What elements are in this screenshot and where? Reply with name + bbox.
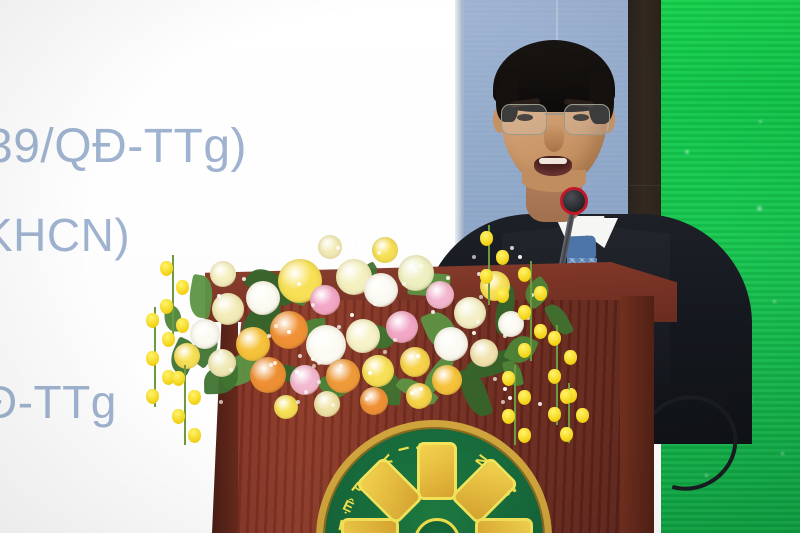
babys-breath-dot xyxy=(269,363,273,367)
babys-breath-dot xyxy=(392,262,396,266)
babys-breath-dot xyxy=(336,246,340,250)
babys-breath-dot xyxy=(446,276,450,280)
flower-bloom xyxy=(274,395,298,419)
orchid-floret xyxy=(160,261,173,276)
flower-bloom xyxy=(454,297,486,329)
orchid-floret xyxy=(146,351,159,366)
flower-bloom xyxy=(386,311,418,343)
slide-line-1: 39/QĐ-TTg) xyxy=(0,119,247,174)
babys-breath-dot xyxy=(419,387,423,391)
orchid-floret xyxy=(502,371,515,386)
babys-breath-dot xyxy=(339,364,343,368)
emblem-petal xyxy=(417,442,457,500)
babys-breath-dot xyxy=(292,244,296,248)
orchid-floret xyxy=(160,299,173,314)
orchid-floret xyxy=(518,390,531,405)
flower-bloom xyxy=(470,339,498,367)
babys-breath-dot xyxy=(377,251,381,255)
babys-breath-dot xyxy=(472,331,476,335)
led-speckle xyxy=(757,206,762,211)
babys-breath-dot xyxy=(503,334,507,338)
babys-breath-dot xyxy=(219,400,223,404)
flower-bloom xyxy=(426,281,454,309)
orchid-floret xyxy=(534,324,547,339)
babys-breath-dot xyxy=(331,403,335,407)
flower-bloom xyxy=(210,261,236,287)
flower-bloom xyxy=(346,319,380,353)
babys-breath-dot xyxy=(503,387,507,391)
babys-breath-dot xyxy=(413,269,417,273)
orchid-floret xyxy=(176,318,189,333)
lens-right xyxy=(564,104,610,135)
led-speckle xyxy=(781,452,784,455)
orchid-floret xyxy=(560,389,573,404)
orchid-floret xyxy=(146,389,159,404)
flower-bloom xyxy=(310,285,340,315)
orchid-floret xyxy=(146,313,159,328)
flower-bloom xyxy=(360,387,388,415)
babys-breath-dot xyxy=(419,264,423,268)
flower-bloom xyxy=(250,357,286,393)
orchid-floret xyxy=(188,428,201,443)
babys-breath-dot xyxy=(354,244,358,248)
emblem-petal xyxy=(475,518,533,533)
orchid-floret xyxy=(480,231,493,246)
led-speckle xyxy=(773,300,776,303)
orchid-floret xyxy=(548,369,561,384)
orchid-floret xyxy=(548,407,561,422)
flower-bloom xyxy=(174,343,200,369)
flower-bloom xyxy=(372,237,398,263)
lens-left xyxy=(501,104,547,135)
mouth xyxy=(534,156,572,176)
flower-bloom xyxy=(236,327,270,361)
flower-bloom xyxy=(434,327,468,361)
flower-bloom xyxy=(246,281,280,315)
babys-breath-dot xyxy=(538,402,542,406)
emblem-ring-char: I xyxy=(394,445,412,453)
slide-line-2: KHCN) xyxy=(0,208,130,262)
babys-breath-dot xyxy=(493,377,497,381)
babys-breath-dot xyxy=(219,350,223,354)
babys-breath-dot xyxy=(312,364,316,368)
flower-bloom xyxy=(432,365,462,395)
flower-bloom xyxy=(362,355,394,387)
babys-breath-dot xyxy=(383,350,387,354)
flower-bloom xyxy=(212,293,244,325)
babys-breath-dot xyxy=(229,368,233,372)
babys-breath-dot xyxy=(298,354,302,358)
flower-bloom xyxy=(314,391,340,417)
glasses-bridge xyxy=(545,113,565,115)
orchid-floret xyxy=(502,409,515,424)
orchid-floret xyxy=(172,409,185,424)
babys-breath-dot xyxy=(381,276,385,280)
orchid-floret xyxy=(162,332,175,347)
babys-breath-dot xyxy=(518,255,522,259)
flower-bloom xyxy=(326,359,360,393)
babys-breath-dot xyxy=(337,325,341,329)
babys-breath-dot xyxy=(267,334,271,338)
babys-breath-dot xyxy=(350,313,354,317)
babys-breath-dot xyxy=(223,246,227,250)
photo-scene: 39/QĐ-TTg) KHCN) Đ-TTg xyxy=(0,0,800,533)
orchid-floret xyxy=(188,390,201,405)
orchid-floret xyxy=(518,267,531,282)
orchid-floret xyxy=(518,428,531,443)
babys-breath-dot xyxy=(179,265,183,269)
institute-emblem: VIỆN NÔNG NGHIỆP VIỆT NAM xyxy=(316,420,552,533)
orchid-floret xyxy=(518,343,531,358)
emblem-ring-char: Ệ xyxy=(340,497,356,517)
orchid-floret xyxy=(534,286,547,301)
slide-line-3: Đ-TTg xyxy=(0,375,117,429)
babys-breath-dot xyxy=(186,306,190,310)
nose xyxy=(544,124,564,152)
microphone-icon xyxy=(560,187,588,215)
orchid-floret xyxy=(548,331,561,346)
babys-breath-dot xyxy=(510,246,514,250)
babys-breath-dot xyxy=(431,310,435,314)
lectern-right-edge xyxy=(620,296,654,533)
babys-breath-dot xyxy=(171,403,175,407)
babys-breath-dot xyxy=(295,370,299,374)
babys-breath-dot xyxy=(501,400,505,404)
orchid-floret xyxy=(480,269,493,284)
orchid-floret xyxy=(576,408,589,423)
orchid-floret xyxy=(176,280,189,295)
babys-breath-dot xyxy=(296,400,300,404)
orchid-floret xyxy=(518,305,531,320)
orchid-floret xyxy=(496,288,509,303)
orchid-floret xyxy=(564,350,577,365)
babys-breath-dot xyxy=(317,380,321,384)
orchid-floret xyxy=(172,371,185,386)
babys-breath-dot xyxy=(242,277,246,281)
babys-breath-dot xyxy=(472,255,476,259)
flower-bloom xyxy=(400,347,430,377)
orchid-floret xyxy=(496,250,509,265)
babys-breath-dot xyxy=(508,396,512,400)
babys-breath-dot xyxy=(416,354,420,358)
flower-arrangement xyxy=(150,215,580,420)
led-speckle xyxy=(759,120,762,123)
orchid-floret xyxy=(560,427,573,442)
